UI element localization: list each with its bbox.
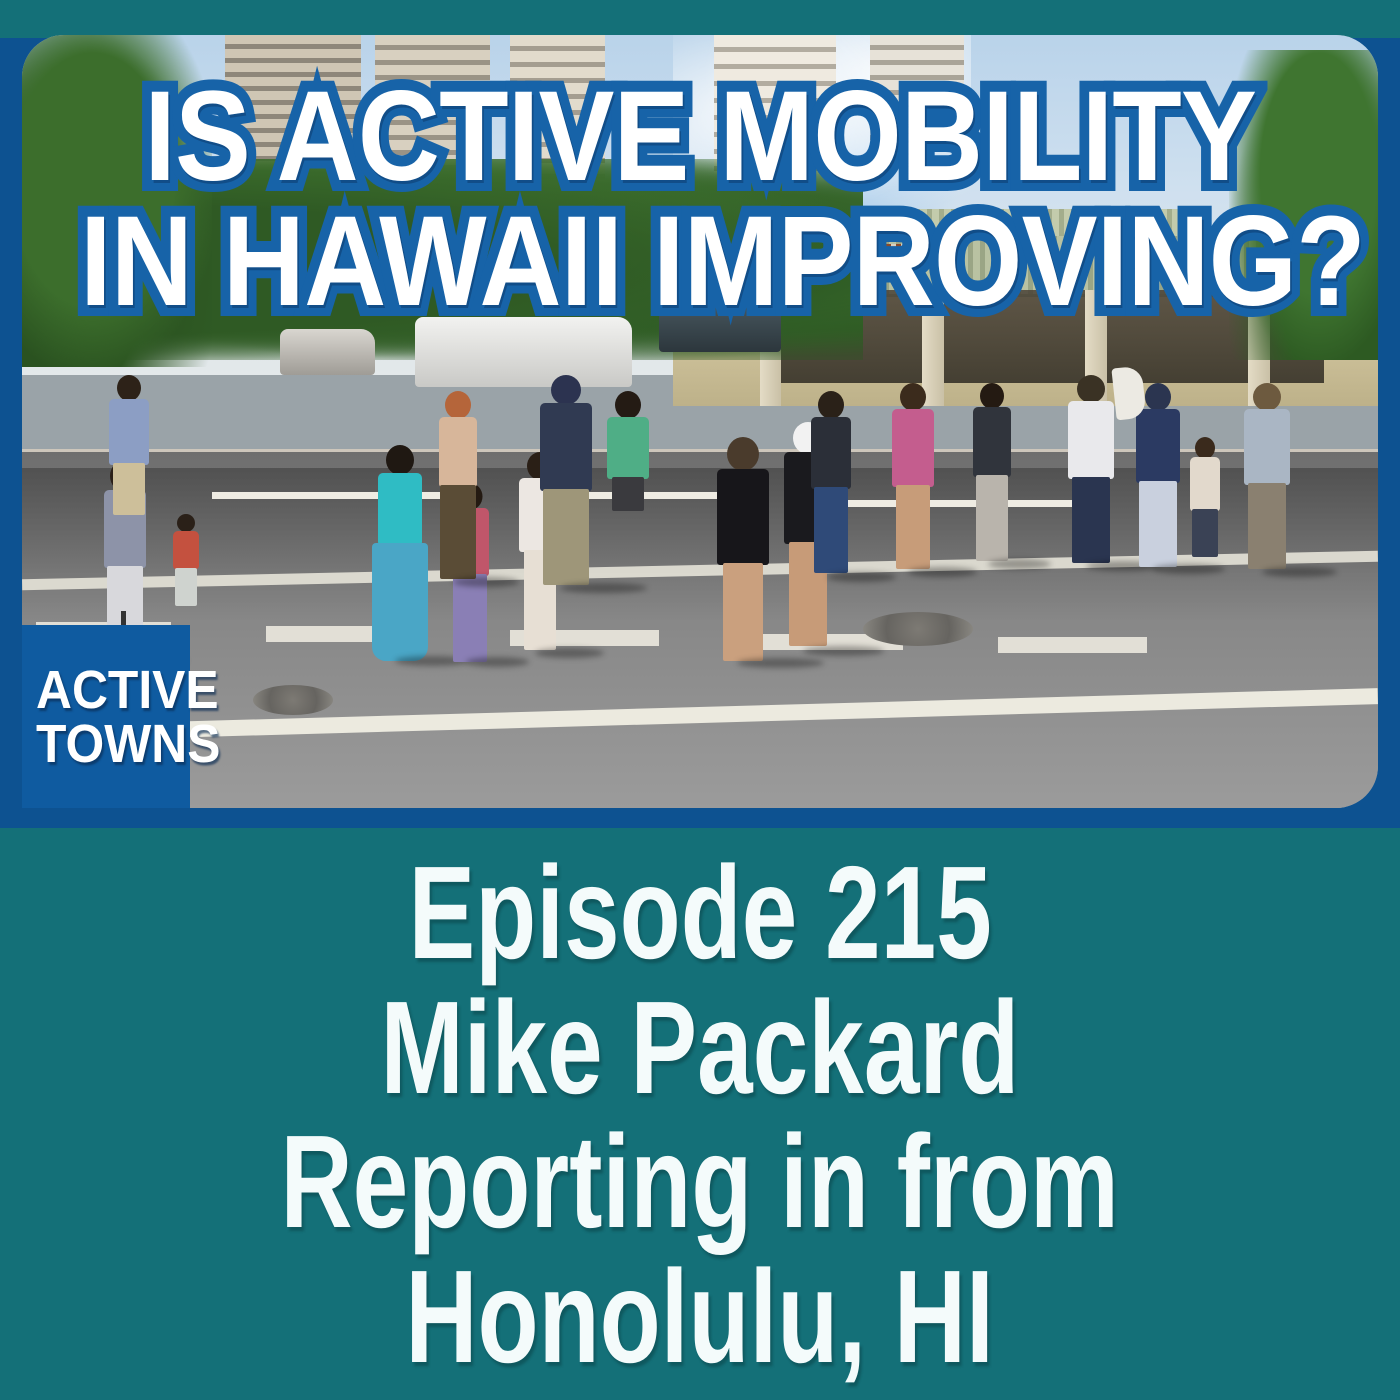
hotel-tower (870, 35, 965, 143)
episode-caption: Episode 215 Mike Packard Reporting in fr… (0, 846, 1400, 1385)
pedestrian (605, 391, 651, 511)
parked-car (280, 329, 375, 375)
palm-tree (22, 35, 212, 367)
parked-van (415, 317, 632, 387)
caption-location: Honolulu, HI (406, 1250, 994, 1385)
caption-guest-name: Mike Packard (381, 981, 1020, 1116)
manhole-cover (863, 612, 973, 646)
crosswalk-stripe (998, 637, 1147, 653)
podcast-cover-art: IS ACTIVE MOBILITY IN HAWAII IMPROVING? … (0, 0, 1400, 1400)
caption-episode-number: Episode 215 (408, 846, 991, 981)
hero-photo (22, 35, 1378, 808)
pedestrian (1188, 437, 1222, 557)
manhole-cover (253, 685, 333, 715)
pedestrian (537, 375, 595, 587)
pedestrian (808, 391, 854, 576)
pedestrian (714, 437, 772, 662)
pedestrian (1066, 375, 1116, 565)
lane-marking (836, 500, 1080, 507)
hotel-tower (714, 35, 836, 174)
bus (659, 298, 781, 352)
pedestrian (890, 383, 936, 571)
pedestrian (1242, 383, 1292, 571)
logo-line-1: ACTIVE (36, 663, 178, 717)
street-scene-illustration (22, 35, 1378, 808)
caption-reporting-line: Reporting in from (281, 1115, 1119, 1250)
active-towns-logo: ACTIVE TOWNS (22, 625, 190, 808)
pedestrian (436, 391, 480, 581)
palm-tree (1229, 50, 1378, 359)
pedestrian (171, 514, 201, 604)
pedestrian (971, 383, 1013, 563)
pedestrian (107, 375, 151, 515)
pedestrian (375, 445, 425, 660)
logo-line-2: TOWNS (36, 717, 178, 771)
